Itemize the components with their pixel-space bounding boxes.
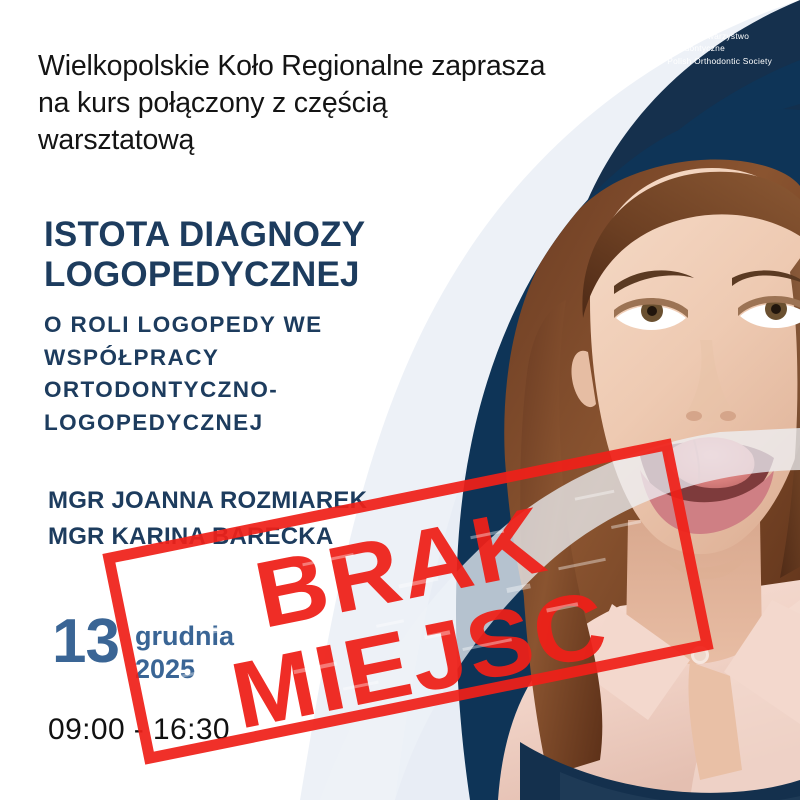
- event-date: 13 grudnia 2025: [52, 612, 234, 686]
- invitation-text: Wielkopolskie Koło Regionalne zaprasza n…: [38, 48, 598, 159]
- association-logo: Polskie Towarzystwo Ortodontyczne Polish…: [634, 30, 800, 67]
- event-time: 09:00 - 16:30: [48, 713, 230, 747]
- speakers-list: MGR JOANNA ROZMIAREK MGR KARINA BARECKA: [48, 483, 468, 556]
- poster-canvas: Polskie Towarzystwo Ortodontyczne Polish…: [0, 0, 800, 800]
- page-title: ISTOTA DIAGNOZY LOGOPEDYCZNEJ: [44, 215, 474, 293]
- pto-monogram-icon: [634, 36, 658, 62]
- subtitle: O ROLI LOGOPEDY WE WSPÓŁPRACY ORTODONTYC…: [44, 309, 444, 440]
- association-logo-text: Polskie Towarzystwo Ortodontyczne Polish…: [667, 30, 800, 67]
- event-month-year: grudnia 2025: [135, 620, 234, 686]
- event-day-number: 13: [52, 612, 119, 672]
